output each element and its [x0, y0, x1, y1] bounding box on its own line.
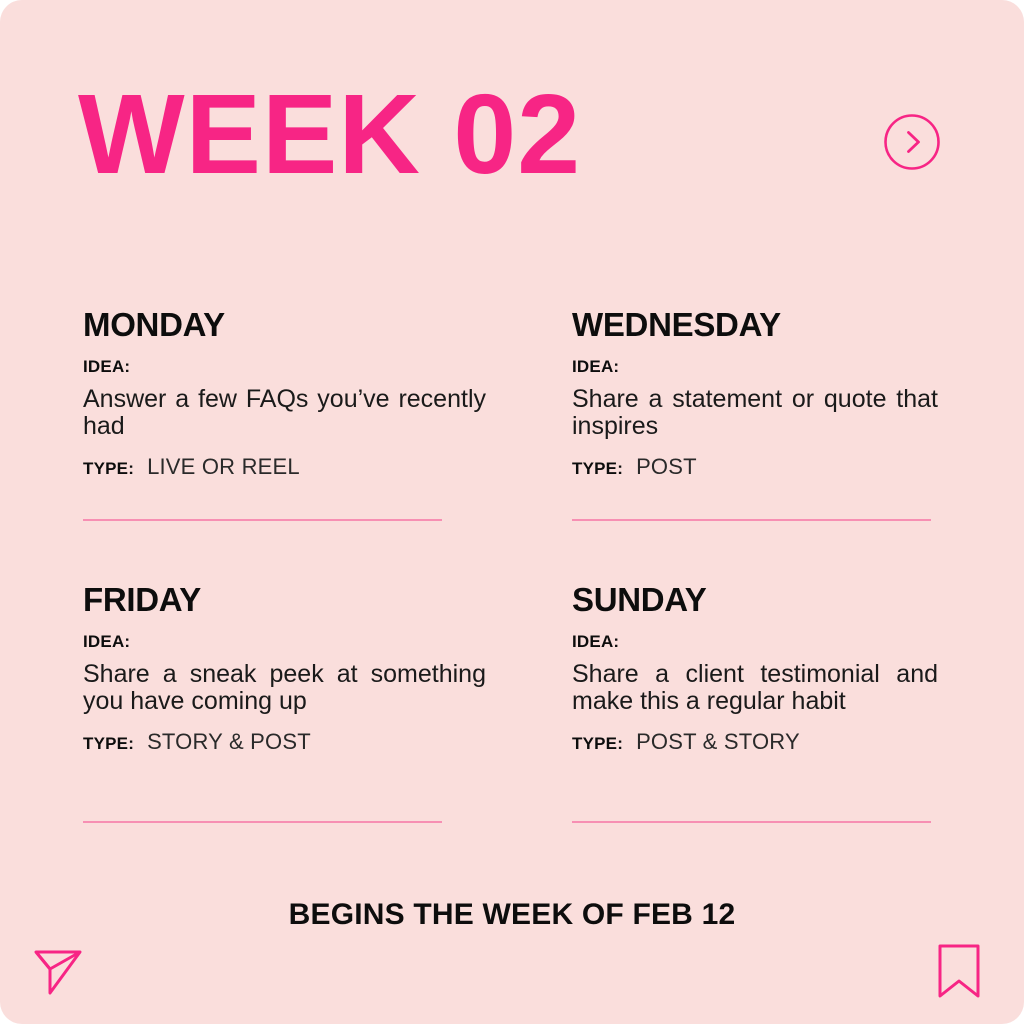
type-label: TYPE:: [83, 734, 134, 754]
idea-text: Share a statement or quote that inspires: [572, 386, 938, 440]
idea-label: IDEA:: [83, 357, 448, 377]
day-title: WEDNESDAY: [572, 308, 937, 343]
day-title: SUNDAY: [572, 583, 937, 618]
type-value: POST & STORY: [636, 729, 800, 755]
type-row: TYPE: POST & STORY: [572, 729, 937, 755]
type-row: TYPE: POST: [572, 454, 937, 480]
idea-label: IDEA:: [572, 632, 937, 652]
content-planner-card: WEEK 02 MONDAY IDEA: Answer a few FAQs y…: [0, 0, 1024, 1024]
type-row: TYPE: LIVE OR REEL: [83, 454, 448, 480]
divider-wrap: [83, 821, 442, 823]
day-grid: MONDAY IDEA: Answer a few FAQs you’ve re…: [0, 0, 1024, 1024]
divider-wrap: [83, 519, 442, 521]
divider-wrap: [572, 519, 931, 521]
type-label: TYPE:: [572, 734, 623, 754]
day-title: FRIDAY: [83, 583, 448, 618]
day-block-friday[interactable]: FRIDAY IDEA: Share a sneak peek at somet…: [83, 583, 448, 755]
day-divider: [572, 519, 931, 521]
day-block-wednesday[interactable]: WEDNESDAY IDEA: Share a statement or quo…: [572, 308, 937, 480]
idea-label: IDEA:: [83, 632, 448, 652]
type-label: TYPE:: [572, 459, 623, 479]
type-row: TYPE: STORY & POST: [83, 729, 448, 755]
type-value: POST: [636, 454, 697, 480]
day-block-sunday[interactable]: SUNDAY IDEA: Share a client testimonial …: [572, 583, 937, 755]
bookmark-icon[interactable]: [937, 943, 981, 999]
footer-note: BEGINS THE WEEK OF FEB 12: [0, 898, 1024, 932]
day-divider: [83, 519, 442, 521]
day-divider: [572, 821, 931, 823]
day-title: MONDAY: [83, 308, 448, 343]
send-paper-plane-icon[interactable]: [31, 944, 85, 998]
type-value: LIVE OR REEL: [147, 454, 300, 480]
divider-wrap: [572, 821, 931, 823]
day-block-monday[interactable]: MONDAY IDEA: Answer a few FAQs you’ve re…: [83, 308, 448, 480]
day-divider: [83, 821, 442, 823]
type-label: TYPE:: [83, 459, 134, 479]
idea-label: IDEA:: [572, 357, 937, 377]
idea-text: Share a sneak peek at something you have…: [83, 661, 486, 715]
idea-text: Answer a few FAQs you’ve recently had: [83, 386, 486, 440]
type-value: STORY & POST: [147, 729, 311, 755]
idea-text: Share a client testimonial and make this…: [572, 661, 938, 715]
